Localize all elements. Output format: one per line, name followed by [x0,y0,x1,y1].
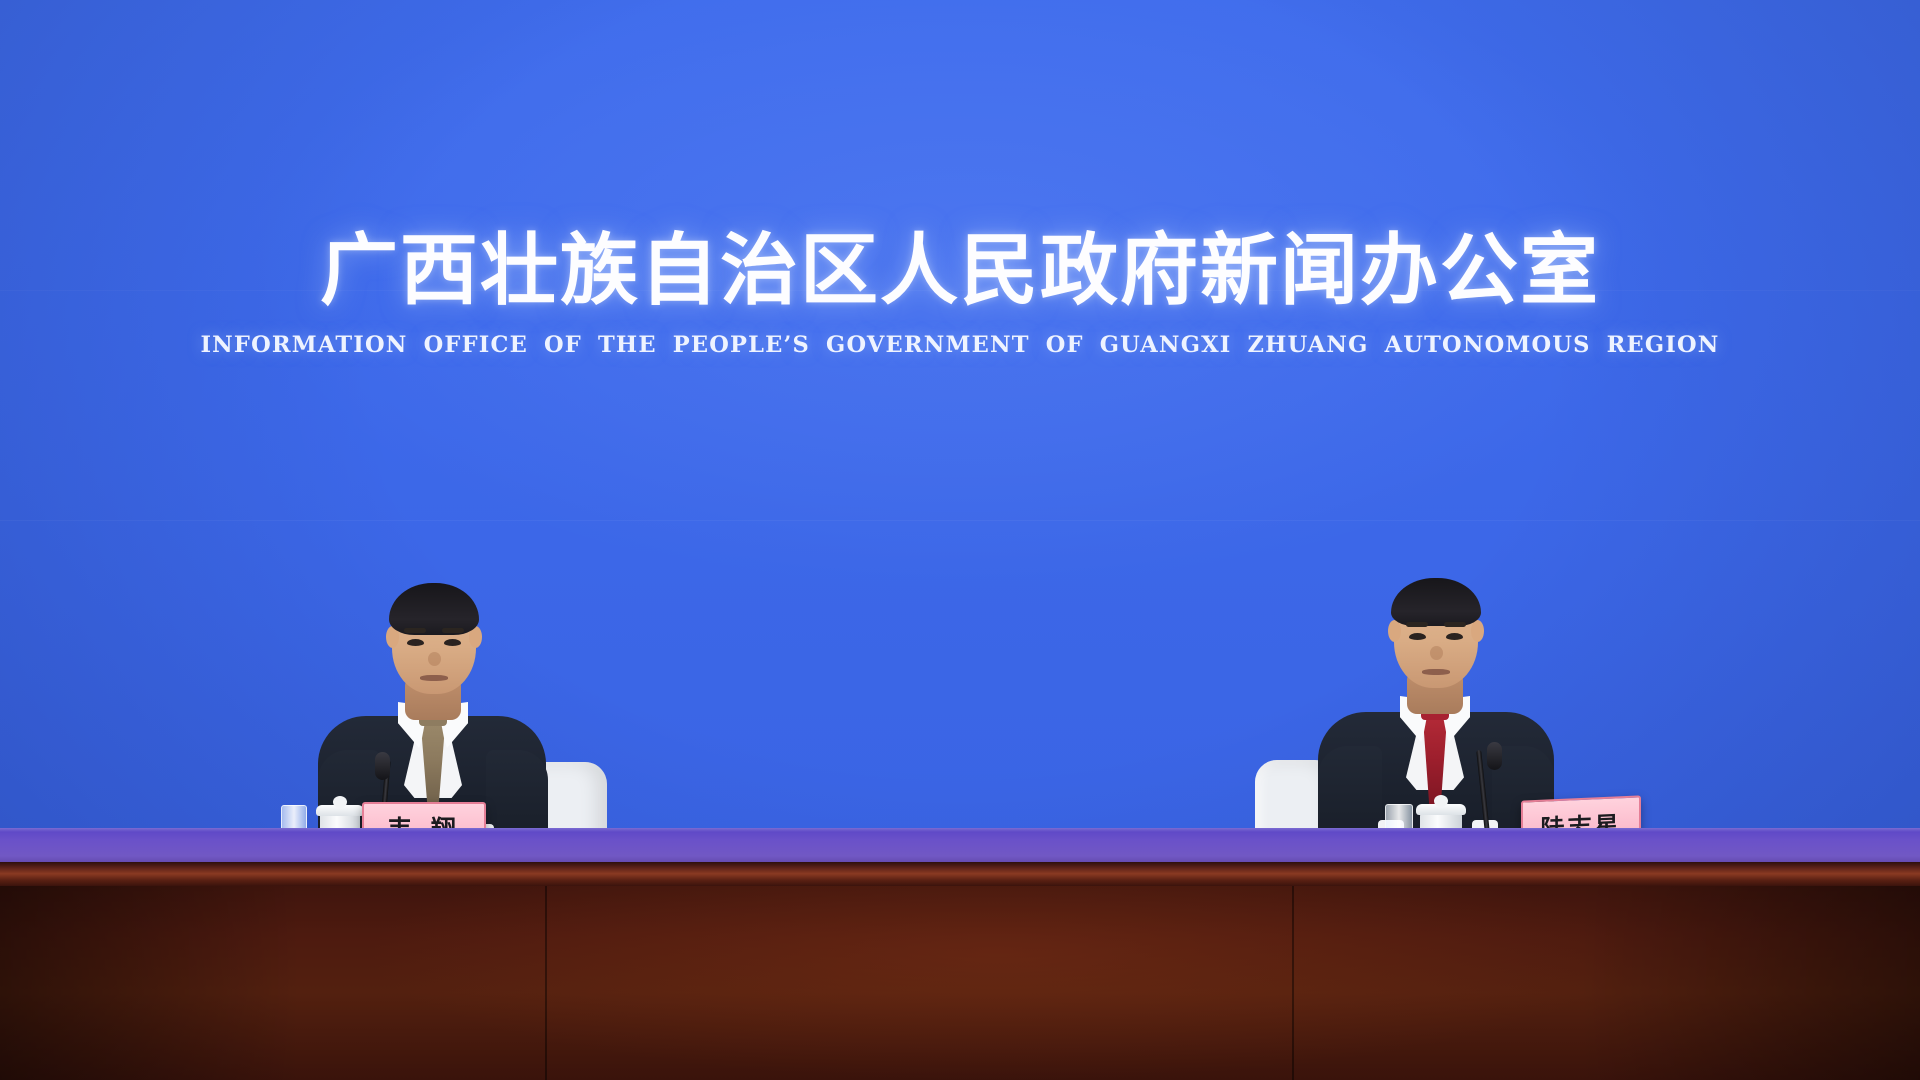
ear-right-r [1471,620,1484,642]
desk-shadow-right [1580,886,1920,1080]
eyebrow-right-l [1406,622,1428,627]
eyebrow-left-l [404,628,426,633]
teacup-knob-left [333,796,347,808]
nose-left [428,652,441,666]
microphone-head-right [1487,742,1502,770]
nose-right [1430,646,1443,660]
eyebrow-right-r [1444,622,1466,627]
desk-seam-left [545,886,547,1080]
microphone-head-left [375,752,390,780]
title-english: INFORMATION OFFICE OF THE PEOPLE’S GOVER… [0,332,1920,358]
press-conference-photo: 广西壮族自治区人民政府新闻办公室 INFORMATION OFFICE OF T… [0,0,1920,1080]
title-chinese: 广西壮族自治区人民政府新闻办公室 [0,232,1920,310]
eye-right-l [1409,633,1426,640]
eye-left-r [444,639,461,646]
eye-right-r [1446,633,1463,640]
backdrop-vignette [0,0,1920,868]
eye-left-l [407,639,424,646]
desk-front-panel [0,886,1920,1080]
desk-seam-right [1292,886,1294,1080]
mouth-left [420,675,448,681]
desk-wood-trim [0,862,1920,888]
eyebrow-left-r [442,628,464,633]
teacup-knob-right [1434,795,1448,807]
mouth-right [1422,669,1450,675]
desk-shadow-left [0,886,300,1080]
ear-right-l [1388,620,1401,642]
backdrop-title-block: 广西壮族自治区人民政府新闻办公室 INFORMATION OFFICE OF T… [0,232,1920,358]
